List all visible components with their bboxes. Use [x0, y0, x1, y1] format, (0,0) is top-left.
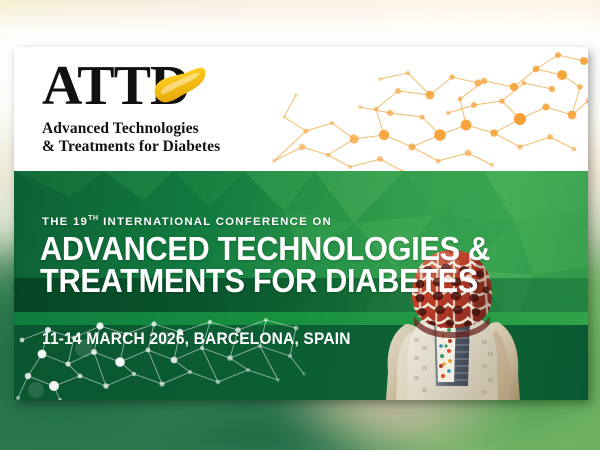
attd-wordmark: ATTD — [42, 61, 272, 111]
banner-header: ATTD Advanced Tec — [14, 47, 588, 171]
attd-wordmark-text: ATTD — [42, 55, 189, 117]
attd-logo: ATTD Advanced Tec — [42, 61, 272, 155]
headline-line-2: TREATMENTS FOR DIABETES — [40, 265, 490, 297]
conference-headline: ADVANCED TECHNOLOGIES & TREATMENTS FOR D… — [40, 233, 490, 296]
headline-line-1: ADVANCED TECHNOLOGIES & — [40, 233, 490, 265]
conference-banner-card: ATTD Advanced Tec — [14, 47, 588, 400]
conference-kicker: THE 19TH INTERNATIONAL CONFERENCE ON — [42, 215, 332, 228]
conference-dateline: 11-14 MARCH 2026, BARCELONA, SPAIN — [42, 330, 351, 349]
kicker-ordinal: TH — [88, 215, 99, 222]
attd-tagline-line1: Advanced Technologies — [42, 120, 272, 138]
kicker-prefix: THE 19 — [42, 216, 88, 228]
screenshot-stage: ATTD Advanced Tec — [0, 0, 600, 450]
attd-tagline-line2: & Treatments for Diabetes — [42, 138, 272, 156]
molecular-network-icon-orange — [262, 47, 588, 171]
banner-green-body: THE 19TH INTERNATIONAL CONFERENCE ON ADV… — [14, 171, 588, 400]
kicker-suffix: INTERNATIONAL CONFERENCE ON — [99, 216, 332, 228]
attd-tagline: Advanced Technologies & Treatments for D… — [42, 120, 272, 155]
